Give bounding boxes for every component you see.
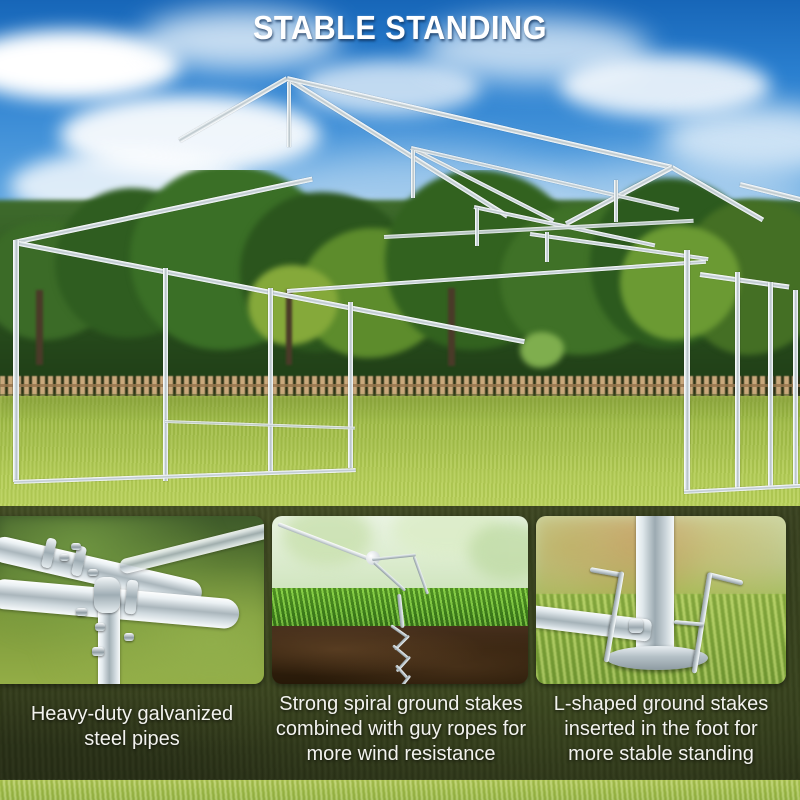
feature-caption-l-shaped-ground-stakes: L-shaped ground stakes inserted in the f… (536, 692, 786, 767)
fence-rail (0, 384, 800, 387)
frame-strut (287, 82, 291, 147)
feature-caption-heavy-duty-pipes: Heavy-duty galvanized steel pipes (0, 702, 264, 752)
caption-line: more wind resistance (270, 742, 532, 767)
caption-line: combined with guy ropes for (270, 717, 532, 742)
frame-leg (268, 288, 273, 471)
features-section: Heavy-duty galvanized steel pipes (0, 506, 800, 800)
feature-image-heavy-duty-pipes[interactable] (0, 516, 264, 684)
frame-leg (13, 240, 19, 482)
caption-line: more stable standing (536, 742, 786, 767)
page-title: STABLE STANDING (28, 9, 772, 47)
frame-strut (545, 232, 549, 262)
frame-leg (793, 290, 798, 486)
frame-leg (163, 268, 168, 481)
frame-leg (348, 302, 353, 468)
bolt (124, 633, 134, 641)
bolt (71, 543, 81, 550)
hex-bolt (629, 619, 643, 633)
feature-caption-spiral-ground-stakes: Strong spiral ground stakes combined wit… (270, 692, 532, 767)
frame-strut (614, 180, 618, 222)
bolt (95, 623, 105, 631)
frame-leg (768, 282, 773, 487)
tree-trunk (286, 290, 292, 365)
bright-grass-strip (0, 780, 800, 800)
bolt (88, 569, 98, 576)
bolt (60, 554, 69, 561)
soil-layer (272, 626, 528, 684)
bolt (92, 647, 104, 656)
caption-line: Strong spiral ground stakes (270, 692, 532, 717)
caption-line: L-shaped ground stakes (536, 692, 786, 717)
product-feature-infographic: STABLE STANDING (0, 0, 800, 800)
caption-line: inserted in the foot for (536, 717, 786, 742)
bolt (76, 608, 87, 616)
feature-image-l-shaped-ground-stakes[interactable] (536, 516, 786, 684)
feature-image-spiral-ground-stakes[interactable] (272, 516, 528, 684)
frame-strut (411, 150, 415, 198)
frame-leg (684, 250, 690, 492)
frame-leg (735, 272, 740, 490)
frame-strut (475, 208, 479, 246)
lawn-haze (0, 396, 800, 422)
tree-trunk (36, 290, 43, 365)
pipe-clamp (94, 577, 120, 613)
caption-line: Heavy-duty galvanized (0, 702, 264, 727)
hero-image (0, 0, 800, 506)
caption-line: steel pipes (0, 727, 264, 752)
